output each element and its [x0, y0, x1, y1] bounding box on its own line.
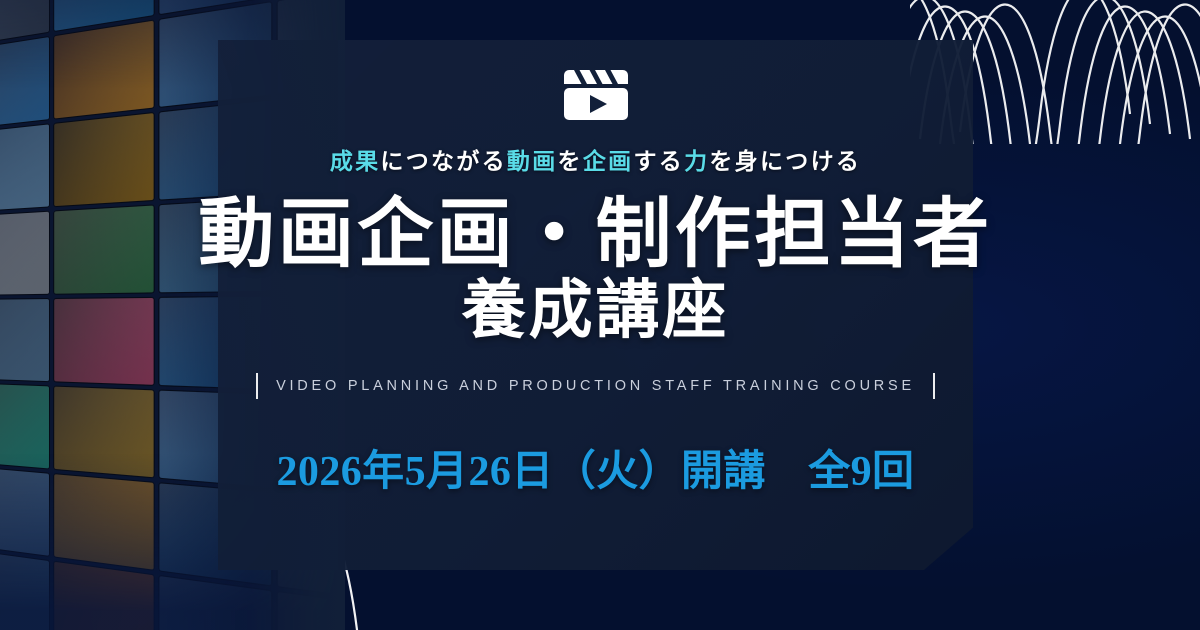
promo-banner: 成果につながる動画を企画する力を身につける 動画企画・制作担当者 養成講座 VI… — [0, 0, 1200, 630]
rule-left-icon — [256, 373, 258, 399]
subtitle-segment: する — [633, 148, 684, 174]
subtitle-segment: を — [558, 148, 583, 174]
english-subtitle-row: VIDEO PLANNING AND PRODUCTION STAFF TRAI… — [256, 373, 935, 399]
subtitle-segment: 動画 — [507, 148, 558, 174]
clapperboard-play-icon — [559, 56, 633, 130]
rule-right-icon — [933, 373, 935, 399]
subtitle-segment: 力 — [684, 148, 709, 174]
subtitle-segment: を身につける — [709, 148, 861, 174]
page-title-line1: 動画企画・制作担当者 — [198, 196, 992, 275]
english-subtitle: VIDEO PLANNING AND PRODUCTION STAFF TRAI… — [276, 378, 915, 394]
page-title-line2: 養成講座 — [462, 277, 730, 345]
subtitle-segment: 成果 — [330, 148, 381, 174]
subtitle-segment: につながる — [380, 148, 507, 174]
schedule-text: 2026年5月26日（火）開講 全9回 — [277, 437, 915, 498]
subtitle-japanese: 成果につながる動画を企画する力を身につける — [330, 142, 861, 176]
banner-content: 成果につながる動画を企画する力を身につける 動画企画・制作担当者 養成講座 VI… — [218, 40, 973, 570]
subtitle-segment: 企画 — [583, 148, 634, 174]
